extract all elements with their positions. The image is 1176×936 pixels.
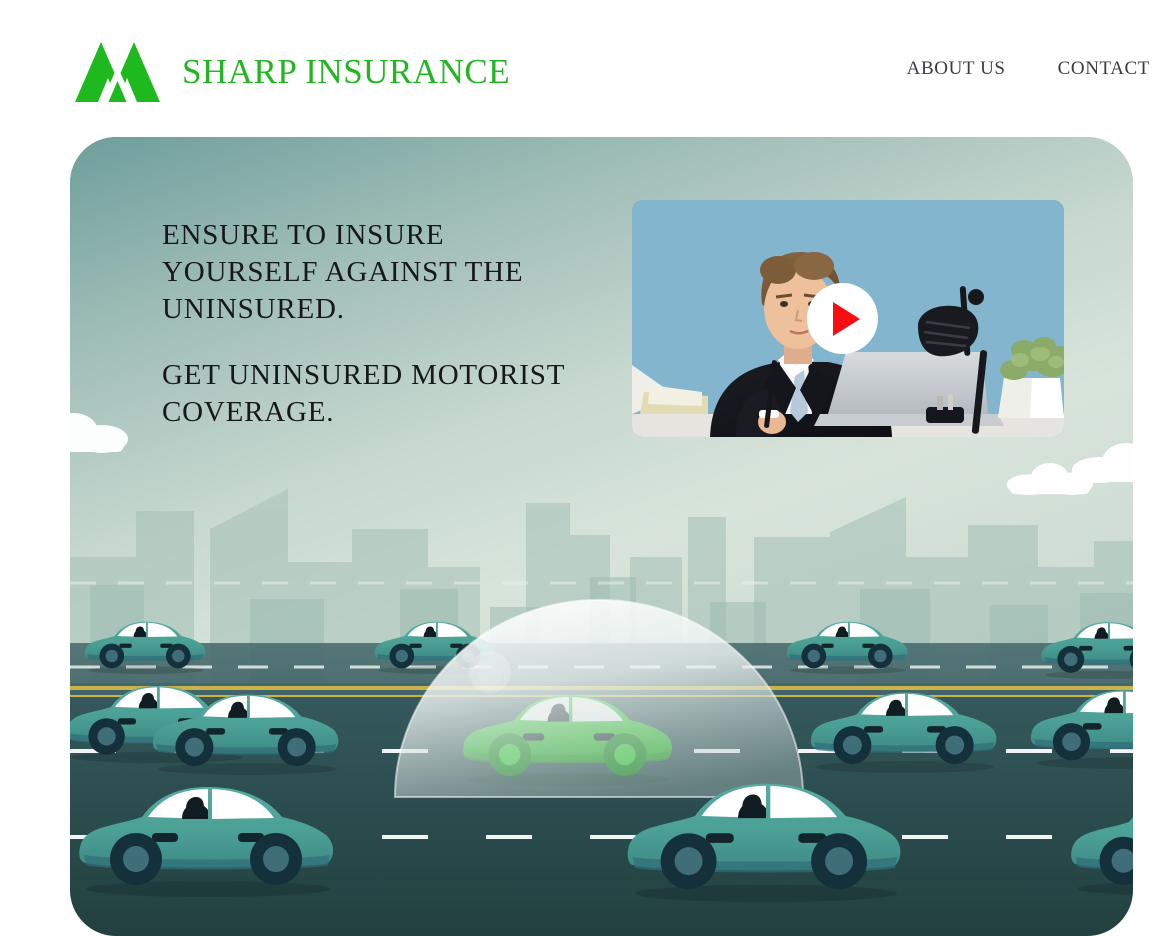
headline-line-1: ENSURE TO INSURE YOURSELF AGAINST THE UN… [162,217,592,328]
landing-page: SHARP INSURANCE ABOUT US CONTACT [0,0,1176,936]
mountain-m-logo-icon [75,40,160,102]
brand-logo[interactable]: SHARP INSURANCE [75,40,510,102]
play-button[interactable] [807,283,878,354]
headline-line-2: GET UNINSURED MOTORIST COVERAGE. [162,357,592,431]
nav-link-about-us[interactable]: ABOUT US [907,58,1006,80]
hero-video-card[interactable] [632,200,1064,437]
brand-name: SHARP INSURANCE [182,54,510,89]
hero-banner: ENSURE TO INSURE YOURSELF AGAINST THE UN… [70,137,1133,936]
nav-link-contact[interactable]: CONTACT [1058,58,1150,80]
play-triangle-icon [833,302,860,336]
main-navigation: ABOUT US CONTACT [907,58,1150,80]
site-header: SHARP INSURANCE ABOUT US CONTACT [0,0,1176,134]
hero-headline: ENSURE TO INSURE YOURSELF AGAINST THE UN… [162,217,592,432]
